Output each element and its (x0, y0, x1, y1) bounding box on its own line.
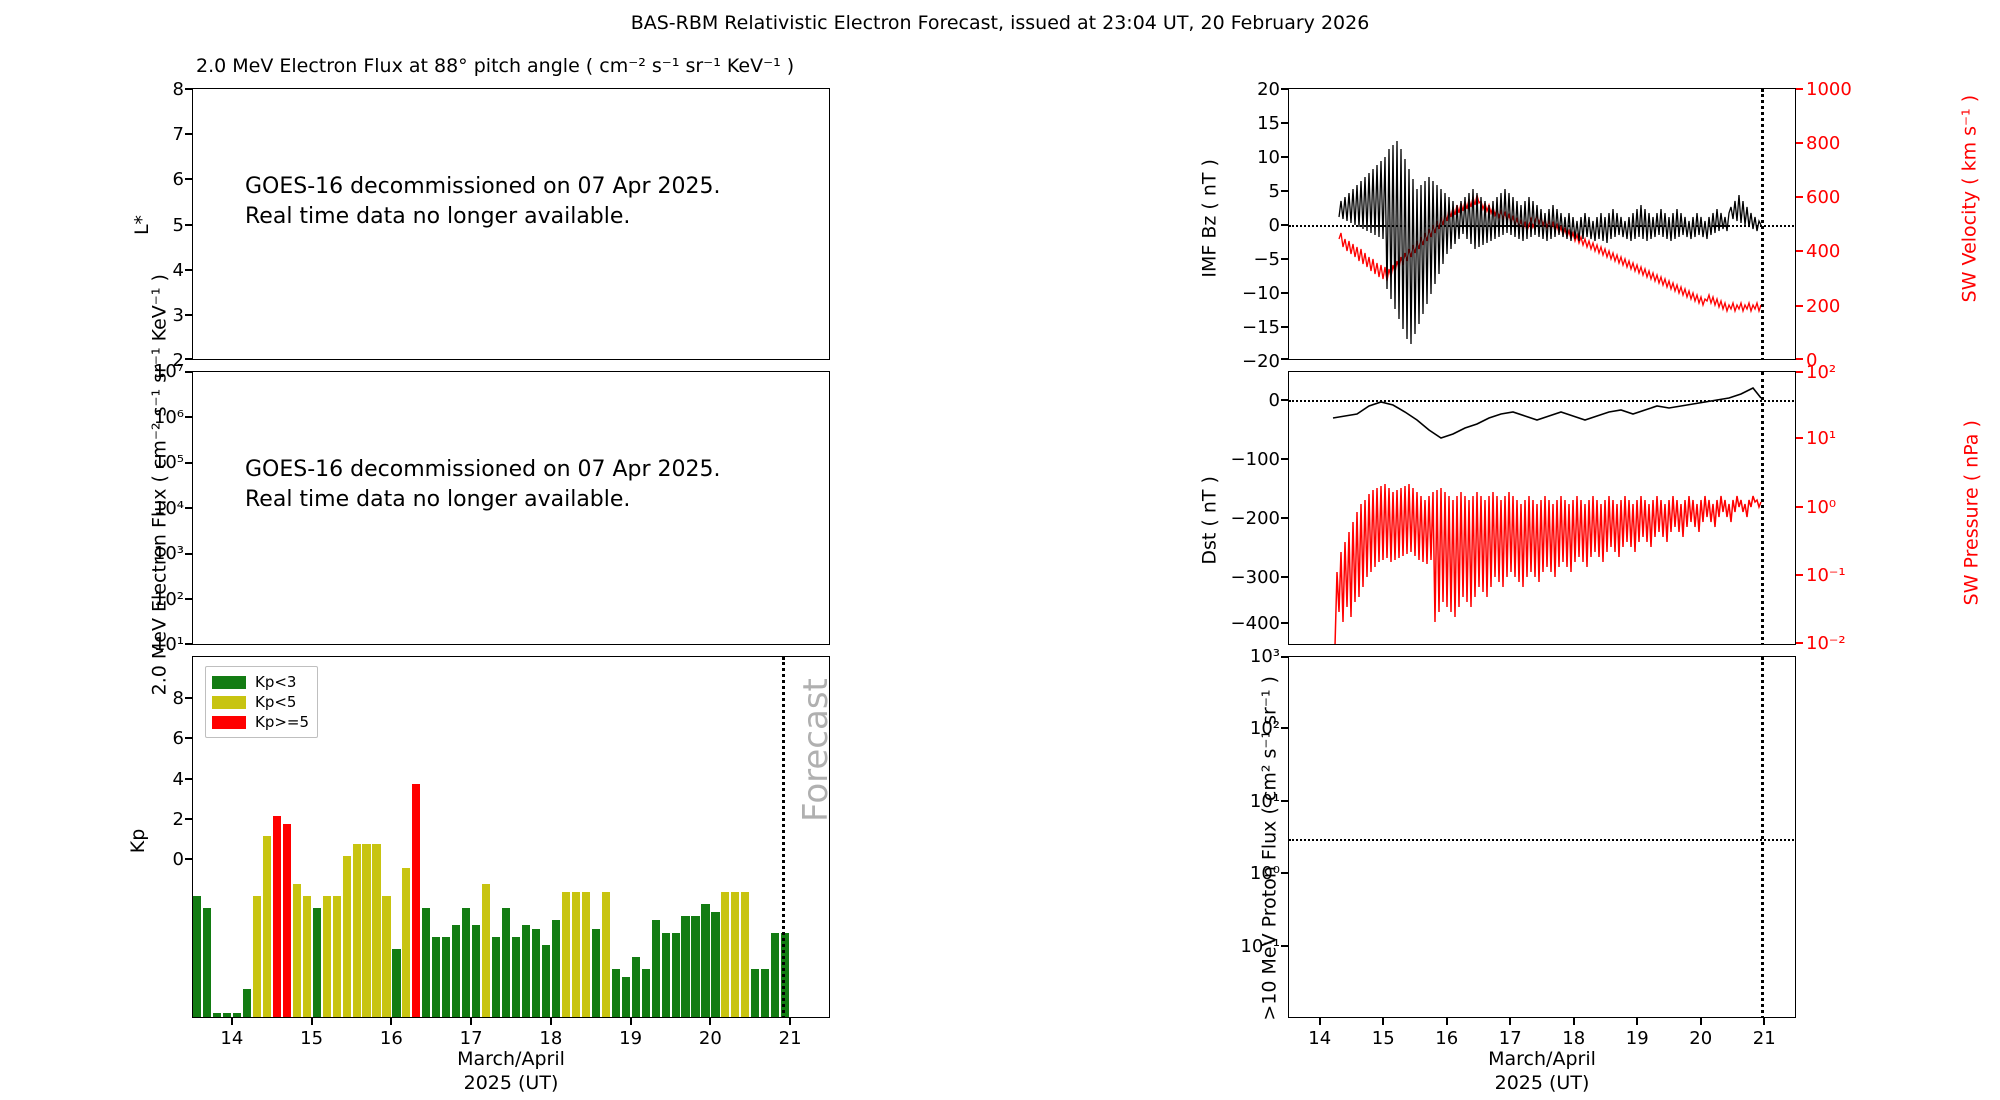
xtick-label-14: 14 (212, 1028, 252, 1049)
kp-bar (612, 969, 620, 1017)
imf-bz-ytick-mark (1281, 258, 1288, 260)
dst-ytick-minus400: −400 (1212, 613, 1280, 634)
kp-bar (382, 896, 390, 1017)
kp-bar (701, 904, 709, 1017)
lstar-panel (192, 88, 830, 360)
kp-bar (761, 969, 769, 1017)
dst-ytick-mark (1281, 399, 1288, 401)
kp-bar (482, 884, 490, 1017)
xtick-label-18: 18 (1554, 1028, 1594, 1049)
xtick-mark (1319, 1018, 1321, 1025)
kp-bar (681, 916, 689, 1017)
xtick-label-15: 15 (292, 1028, 332, 1049)
imf-bz-ytick-minus5: −5 (1222, 249, 1280, 270)
xtick-label-17: 17 (1490, 1028, 1530, 1049)
flux-ytick-mark (185, 643, 193, 645)
kp-bar (422, 908, 430, 1017)
kp-bar (582, 892, 590, 1017)
kp-bar (642, 969, 650, 1017)
kp-bar (731, 892, 739, 1017)
sw-pressure-trace (1335, 484, 1761, 645)
lstar-ytick-mark (185, 88, 193, 90)
kp-xlabel: March/April 2025 (UT) (361, 1048, 661, 1096)
dst-series-plot (1289, 372, 1796, 645)
lstar-ytick-mark (185, 358, 193, 360)
kp-bar (632, 957, 640, 1017)
sw-velocity-ytick-mark (1796, 142, 1803, 144)
lstar-ytick-mark (185, 224, 193, 226)
imf-bz-ytick-mark (1281, 326, 1288, 328)
proton-flux-ylabel: >10 MeV Proton Flux ( cm² s⁻¹ sr⁻¹ ) (1258, 658, 1283, 1038)
kp-bar (532, 929, 540, 1017)
proton-ytick-1e2: 10² (1218, 718, 1280, 739)
kp-legend-row: Kp<3 (212, 672, 309, 692)
kp-ytick-8: 8 (150, 688, 184, 709)
xtick-mark (630, 1018, 632, 1025)
xtick-label-18: 18 (531, 1028, 571, 1049)
xtick-mark (709, 1018, 711, 1025)
kp-bar (293, 884, 301, 1017)
kp-bar (691, 916, 699, 1017)
kp-legend-label-low: Kp<3 (255, 673, 296, 691)
kp-bar (313, 908, 321, 1017)
flux-ytick-1e3: 10³ (122, 543, 184, 564)
sw-pressure-ytick-mark (1796, 437, 1803, 439)
imf-bz-ylabel-left: IMF Bz ( nT ) (1198, 158, 1223, 278)
sw-velocity-ytick-200: 200 (1806, 296, 1840, 317)
kp-bar (662, 933, 670, 1017)
flux-ytick-mark (185, 553, 193, 555)
flux-ytick-1e2: 10² (122, 589, 184, 610)
lstar-ytick-mark (185, 314, 193, 316)
kp-ytick-mark (185, 818, 193, 820)
electron-flux-panel (192, 371, 830, 645)
kp-bar (362, 844, 370, 1017)
kp-bar (253, 896, 261, 1017)
sw-velocity-ytick-mark (1796, 358, 1803, 360)
imf-bz-ytick-15: 15 (1232, 113, 1280, 134)
imf-bz-ytick-minus10: −10 (1222, 283, 1280, 304)
sw-pressure-ytick-1eminus1: 10⁻¹ (1806, 565, 1846, 586)
sw-velocity-ytick-400: 400 (1806, 241, 1840, 262)
kp-bar (472, 925, 480, 1018)
xtick-mark (1509, 1018, 1511, 1025)
kp-bar (751, 969, 759, 1017)
kp-bar (522, 925, 530, 1018)
imf-bz-ytick-mark (1281, 88, 1288, 90)
imf-bz-trace (1339, 141, 1761, 344)
kp-ytick-0: 0 (150, 849, 184, 870)
proton-ytick-mark (1281, 800, 1288, 802)
kp-bar (432, 937, 440, 1017)
dst-ytick-mark (1281, 458, 1288, 460)
kp-bar (512, 937, 520, 1017)
sw-pressure-ytick-mark (1796, 574, 1803, 576)
proton-ytick-mark (1281, 656, 1288, 658)
sw-pressure-ytick-1e2: 10² (1806, 362, 1836, 383)
imf-bz-ylabel-right: SW Velocity ( km s⁻¹ ) (1958, 122, 1983, 302)
kp-bar (372, 844, 380, 1017)
dst-ytick-minus300: −300 (1212, 567, 1280, 588)
xtick-label-20: 20 (690, 1028, 730, 1049)
xtick-label-15: 15 (1363, 1028, 1403, 1049)
kp-bar (721, 892, 729, 1017)
sw-pressure-ytick-mark (1796, 642, 1803, 644)
proton-ytick-1e3: 10³ (1218, 646, 1280, 667)
kp-bar (303, 896, 311, 1017)
imf-bz-forecast-divider (1761, 89, 1764, 360)
kp-bar (263, 836, 271, 1017)
kp-bar (442, 937, 450, 1017)
sw-velocity-ytick-mark (1796, 305, 1803, 307)
kp-forecast-divider (782, 657, 785, 1018)
kp-ytick-mark (185, 858, 193, 860)
dst-ytick-mark (1281, 622, 1288, 624)
sw-velocity-ytick-mark (1796, 88, 1803, 90)
kp-bar (672, 933, 680, 1017)
kp-bar (243, 989, 251, 1017)
sw-pressure-ytick-mark (1796, 506, 1803, 508)
sw-velocity-ytick-600: 600 (1806, 187, 1840, 208)
xtick-label-20: 20 (1681, 1028, 1721, 1049)
flux-ytick-1e6: 10⁶ (122, 407, 184, 428)
imf-bz-ytick-10: 10 (1232, 147, 1280, 168)
kp-bar (771, 933, 779, 1017)
lstar-ytick-5: 5 (150, 215, 184, 236)
kp-ylabel: Kp (127, 811, 149, 871)
kp-bar (552, 920, 560, 1017)
kp-bar (741, 892, 749, 1017)
kp-ytick-2: 2 (150, 809, 184, 830)
flux-ytick-mark (185, 416, 193, 418)
kp-bar (333, 896, 341, 1017)
imf-bz-panel (1288, 88, 1796, 360)
imf-bz-ytick-mark (1281, 156, 1288, 158)
kp-bar (572, 892, 580, 1017)
kp-bar (542, 945, 550, 1017)
kp-bar (602, 892, 610, 1017)
imf-bz-ytick-20: 20 (1232, 79, 1280, 100)
kp-bar (492, 937, 500, 1017)
flux-ytick-1e5: 10⁵ (122, 452, 184, 473)
flux-ytick-mark (185, 371, 193, 373)
kp-legend-label-high: Kp>=5 (255, 713, 309, 731)
kp-legend-row: Kp>=5 (212, 712, 309, 732)
kp-ytick-mark (185, 697, 193, 699)
kp-bar (283, 824, 291, 1017)
proton-flux-threshold-line (1289, 839, 1796, 841)
kp-bar (462, 908, 470, 1017)
flux-ytick-1e4: 10⁴ (122, 498, 184, 519)
xtick-mark (1700, 1018, 1702, 1025)
proton-ytick-1e0: 10⁰ (1218, 863, 1280, 884)
sw-velocity-ytick-1000: 1000 (1806, 79, 1852, 100)
xtick-mark (311, 1018, 313, 1025)
kp-bar (273, 816, 281, 1017)
proton-ytick-mark (1281, 872, 1288, 874)
kp-bar (502, 908, 510, 1017)
imf-bz-ytick-mark (1281, 224, 1288, 226)
xtick-mark (390, 1018, 392, 1025)
lstar-ytick-mark (185, 269, 193, 271)
flux-ytick-mark (185, 598, 193, 600)
xtick-mark (550, 1018, 552, 1025)
kp-legend-swatch-mid (212, 696, 246, 709)
dst-panel (1288, 371, 1796, 645)
kp-ytick-mark (185, 778, 193, 780)
flux-ytick-1e7: 10⁷ (122, 361, 184, 382)
dst-ytick-minus100: −100 (1212, 449, 1280, 470)
xtick-label-17: 17 (451, 1028, 491, 1049)
kp-ytick-6: 6 (150, 728, 184, 749)
proton-flux-panel (1288, 656, 1796, 1018)
kp-legend-swatch-low (212, 676, 246, 689)
figure-suptitle: BAS-RBM Relativistic Electron Forecast, … (0, 12, 2000, 34)
lstar-ytick-mark (185, 178, 193, 180)
xtick-mark (1573, 1018, 1575, 1025)
imf-bz-ytick-mark (1281, 190, 1288, 192)
flux-ytick-1e1: 10¹ (122, 634, 184, 655)
sw-pressure-ylabel-right: SW Pressure ( nPa ) (1960, 425, 1985, 605)
kp-bar (711, 912, 719, 1017)
xtick-label-14: 14 (1300, 1028, 1340, 1049)
sw-pressure-ytick-1eminus2: 10⁻² (1806, 633, 1846, 654)
kp-ytick-mark (185, 737, 193, 739)
imf-bz-ytick-minus20: −20 (1222, 351, 1280, 372)
lstar-ytick-mark (185, 133, 193, 135)
xtick-mark (231, 1018, 233, 1025)
sw-pressure-ytick-mark (1796, 371, 1803, 373)
kp-bar (622, 977, 630, 1017)
dst-ytick-minus200: −200 (1212, 508, 1280, 529)
kp-bar (343, 856, 351, 1017)
imf-bz-ytick-mark (1281, 292, 1288, 294)
kp-bar (452, 925, 460, 1018)
sw-velocity-ytick-mark (1796, 250, 1803, 252)
imf-bz-ytick-minus15: −15 (1222, 317, 1280, 338)
dst-ytick-mark (1281, 576, 1288, 578)
kp-bar (193, 896, 201, 1017)
xtick-label-16: 16 (1427, 1028, 1467, 1049)
figure-canvas: BAS-RBM Relativistic Electron Forecast, … (0, 0, 2000, 1100)
xtick-mark (470, 1018, 472, 1025)
imf-bz-ytick-mark (1281, 122, 1288, 124)
xtick-mark (1763, 1018, 1765, 1025)
sw-pressure-ytick-1e0: 10⁰ (1806, 497, 1836, 518)
kp-bar (223, 1013, 231, 1017)
xtick-mark (1382, 1018, 1384, 1025)
lstar-panel-title: 2.0 MeV Electron Flux at 88° pitch angle… (196, 55, 794, 77)
kp-legend-swatch-high (212, 716, 246, 729)
kp-bar (213, 1013, 221, 1017)
xtick-label-21: 21 (1744, 1028, 1784, 1049)
kp-bar (412, 784, 420, 1017)
kp-bar (392, 949, 400, 1017)
xtick-label-19: 19 (1617, 1028, 1657, 1049)
sw-pressure-ytick-1e1: 10¹ (1806, 428, 1836, 449)
dst-ytick-0: 0 (1222, 390, 1280, 411)
kp-bar (323, 896, 331, 1017)
proton-xlabel: March/April 2025 (UT) (1392, 1048, 1692, 1096)
kp-bar (203, 908, 211, 1017)
kp-legend-row: Kp<5 (212, 692, 309, 712)
kp-legend: Kp<3 Kp<5 Kp>=5 (205, 666, 318, 738)
dst-forecast-divider (1761, 372, 1764, 645)
xtick-label-21: 21 (770, 1028, 810, 1049)
flux-ytick-mark (185, 462, 193, 464)
proton-ytick-mark (1281, 945, 1288, 947)
imf-bz-ytick-5: 5 (1232, 181, 1280, 202)
kp-legend-label-mid: Kp<5 (255, 693, 296, 711)
kp-ytick-4: 4 (150, 769, 184, 790)
lstar-ytick-6: 6 (150, 169, 184, 190)
proton-ytick-1e1: 10¹ (1218, 791, 1280, 812)
imf-bz-ytick-0: 0 (1232, 215, 1280, 236)
imf-bz-series-plot (1289, 89, 1796, 360)
kp-bar (233, 1013, 241, 1017)
xtick-label-16: 16 (371, 1028, 411, 1049)
flux-ytick-mark (185, 507, 193, 509)
xtick-mark (789, 1018, 791, 1025)
kp-bar (562, 892, 570, 1017)
kp-bar (353, 844, 361, 1017)
xtick-mark (1636, 1018, 1638, 1025)
proton-ytick-mark (1281, 727, 1288, 729)
lstar-ytick-7: 7 (150, 124, 184, 145)
imf-bz-ytick-mark (1281, 358, 1288, 360)
dst-ytick-mark (1281, 517, 1288, 519)
lstar-ytick-8: 8 (150, 79, 184, 100)
sw-velocity-ytick-800: 800 (1806, 133, 1840, 154)
kp-bar (402, 868, 410, 1017)
sw-velocity-ytick-mark (1796, 196, 1803, 198)
kp-bar (652, 920, 660, 1017)
kp-bar (592, 929, 600, 1017)
xtick-mark (1446, 1018, 1448, 1025)
proton-flux-forecast-divider (1761, 657, 1764, 1018)
xtick-label-19: 19 (611, 1028, 651, 1049)
dst-trace (1333, 388, 1761, 438)
proton-ytick-1eminus1: 10⁻¹ (1208, 936, 1280, 957)
